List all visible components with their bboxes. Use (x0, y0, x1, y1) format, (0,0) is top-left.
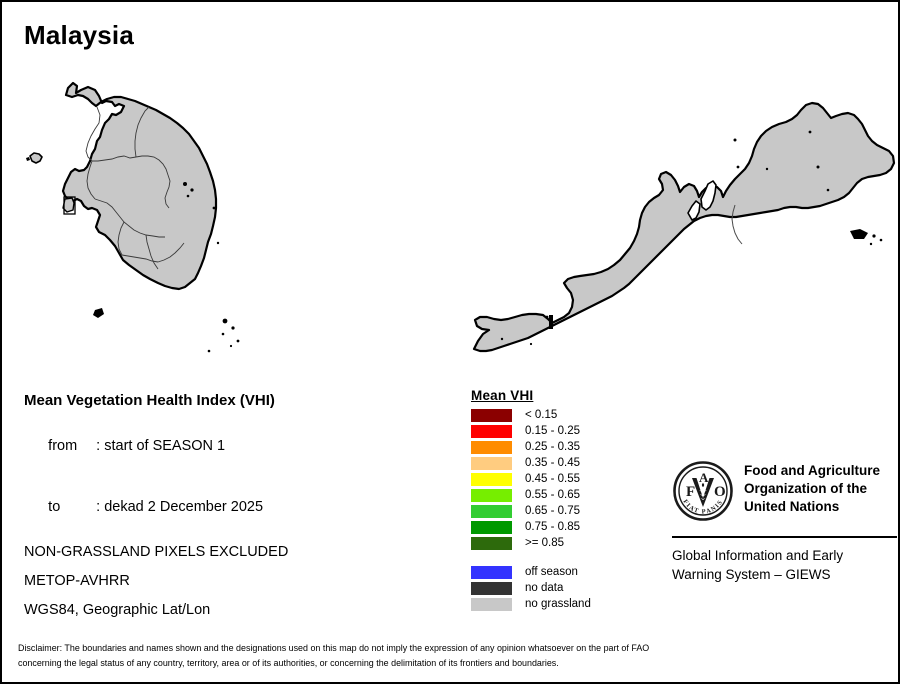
map-canvas[interactable] (2, 57, 898, 357)
svg-text:F: F (686, 484, 695, 500)
page-title: Malaysia (24, 20, 134, 51)
info-row-from: from: start of SEASON 1 (24, 422, 444, 470)
fao-branding-block: F A O FIAT PANIS Food and Agriculture Or… (672, 460, 898, 584)
legend-row-7: 0.75 - 0.85 (471, 519, 651, 535)
info-row-to-value: : dekad 2 December 2025 (96, 499, 263, 515)
fao-org-line3: United Nations (744, 498, 880, 516)
info-row-to-label: to (48, 499, 96, 515)
fao-org-line1: Food and Agriculture (744, 462, 880, 480)
fao-org-line2: Organization of the (744, 480, 880, 498)
info-row-from-label: from (48, 438, 96, 454)
legend-row-no-data: no data (471, 580, 651, 596)
legend-label-1: 0.15 - 0.25 (525, 425, 580, 437)
legend-swatch-7 (471, 521, 512, 534)
svg-text:A: A (699, 470, 709, 485)
legend-row-no-grassland: no grassland (471, 596, 651, 612)
giews-line1: Global Information and Early (672, 547, 898, 566)
borneo-landmass (474, 103, 894, 351)
legend-label-3: 0.35 - 0.45 (525, 457, 580, 469)
fao-emblem-icon: F A O FIAT PANIS (672, 460, 734, 527)
legend-spacer (471, 551, 651, 564)
legend-label-0: < 0.15 (525, 409, 557, 421)
fao-organization-name: Food and Agriculture Organization of the… (744, 460, 880, 515)
map-legend: Mean VHI < 0.15 0.15 - 0.25 0.25 - 0.35 … (471, 388, 651, 612)
legend-row-8: >= 0.85 (471, 535, 651, 551)
legend-swatch-3 (471, 457, 512, 470)
legend-swatch-no-data (471, 582, 512, 595)
legend-row-off-season: off season (471, 564, 651, 580)
legend-label-no-data: no data (525, 582, 563, 594)
legend-label-off-season: off season (525, 566, 578, 578)
legend-swatch-no-grassland (471, 598, 512, 611)
legend-swatch-6 (471, 505, 512, 518)
legend-label-5: 0.55 - 0.65 (525, 489, 580, 501)
legend-swatch-5 (471, 489, 512, 502)
legend-label-7: 0.75 - 0.85 (525, 521, 580, 533)
svg-text:O: O (714, 484, 726, 500)
info-note-pixels: NON-GRASSLAND PIXELS EXCLUDED (24, 544, 444, 560)
info-note-projection: WGS84, Geographic Lat/Lon (24, 602, 444, 618)
legend-row-3: 0.35 - 0.45 (471, 455, 651, 471)
legend-label-no-grassland: no grassland (525, 598, 591, 610)
legend-swatch-8 (471, 537, 512, 550)
langkawi-islands (30, 153, 42, 163)
map-region-east-malaysia-borneo (474, 103, 894, 351)
giews-line2: Warning System – GIEWS (672, 566, 898, 585)
legend-label-4: 0.45 - 0.55 (525, 473, 580, 485)
fao-header: F A O FIAT PANIS Food and Agriculture Or… (672, 460, 898, 527)
penang-island (63, 198, 74, 212)
langkawi-islet (26, 157, 30, 161)
legend-row-4: 0.45 - 0.55 (471, 471, 651, 487)
map-info-block: Mean Vegetation Health Index (VHI) from:… (24, 392, 444, 631)
legend-swatch-1 (471, 425, 512, 438)
legend-swatch-2 (471, 441, 512, 454)
disclaimer-line1: Disclaimer: The boundaries and names sho… (18, 642, 827, 657)
legend-label-6: 0.65 - 0.75 (525, 505, 580, 517)
info-note-sensor: METOP-AVHRR (24, 573, 444, 589)
melaka-coastal-mark (93, 308, 104, 318)
disclaimer-line2: concerning the legal status of any count… (18, 657, 827, 672)
legend-row-1: 0.15 - 0.25 (471, 423, 651, 439)
info-row-to: to: dekad 2 December 2025 (24, 483, 444, 531)
disclaimer: Disclaimer: The boundaries and names sho… (18, 642, 827, 672)
map-page: Malaysia (0, 0, 900, 684)
info-heading: Mean Vegetation Health Index (VHI) (24, 392, 444, 409)
legend-row-5: 0.55 - 0.65 (471, 487, 651, 503)
info-row-from-value: : start of SEASON 1 (96, 438, 225, 454)
map-region-peninsular-malaysia (26, 83, 239, 352)
giews-subtitle: Global Information and Early Warning Sys… (672, 547, 898, 584)
legend-row-6: 0.65 - 0.75 (471, 503, 651, 519)
legend-swatch-off-season (471, 566, 512, 579)
legend-row-0: < 0.15 (471, 407, 651, 423)
legend-title: Mean VHI (471, 388, 651, 403)
fao-divider (672, 536, 897, 538)
legend-row-2: 0.25 - 0.35 (471, 439, 651, 455)
legend-label-2: 0.25 - 0.35 (525, 441, 580, 453)
legend-swatch-4 (471, 473, 512, 486)
legend-label-8: >= 0.85 (525, 537, 564, 549)
legend-swatch-0 (471, 409, 512, 422)
